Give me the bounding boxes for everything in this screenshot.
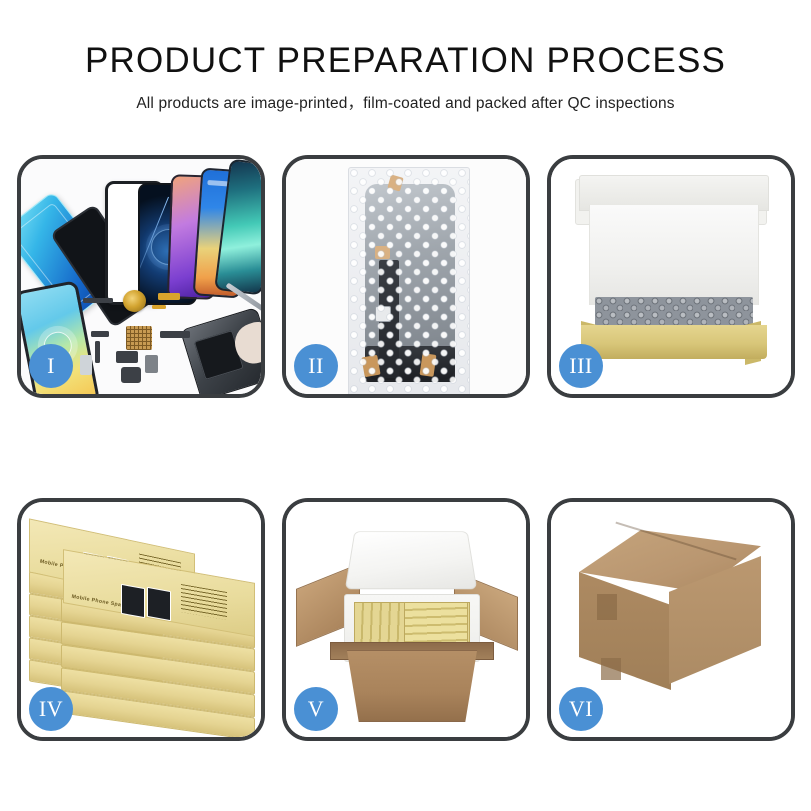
step-1-image: I: [21, 159, 261, 394]
small-flex-cable-icon: [91, 331, 109, 337]
page-title: PRODUCT PREPARATION PROCESS: [0, 42, 811, 81]
step-badge-2: II: [294, 344, 338, 388]
bubble-wrap-bag-icon: [348, 167, 470, 394]
step-badge-4: IV: [29, 687, 73, 731]
speaker-coil-icon: [123, 290, 146, 312]
carton-tape-upper-icon: [597, 594, 617, 620]
step-3-image: III: [551, 159, 791, 394]
earpiece-part-icon: [83, 298, 113, 303]
process-step-panel-3[interactable]: III: [547, 155, 795, 398]
sim-tray-icon: [80, 355, 92, 375]
page-subtitle: All products are image-printed，film-coat…: [0, 81, 811, 113]
chip-grid-icon: [126, 326, 152, 350]
bubble-texture-overlay: [349, 168, 469, 394]
gold-flex-part-icon: [158, 293, 180, 300]
carton-tape-lower-icon: [601, 658, 621, 680]
kraft-mailer-tray-icon: [581, 325, 767, 359]
camera-module-icon: [116, 351, 138, 363]
taptic-engine-icon: [121, 367, 141, 383]
process-step-panel-5[interactable]: V: [282, 498, 530, 741]
step-6-image: VI: [551, 502, 791, 737]
box-screen-image: [121, 584, 145, 618]
step-2-image: II: [286, 159, 526, 394]
step-badge-6: VI: [559, 687, 603, 731]
step-badge-3: III: [559, 344, 603, 388]
ribbon-cable-icon: [160, 331, 190, 338]
step-4-image: Mobile Phone Spare Parts Mobile Phone Sp…: [21, 502, 261, 737]
side-flex-icon: [95, 341, 100, 363]
page-header: PRODUCT PREPARATION PROCESS All products…: [0, 0, 811, 113]
foam-box-lid-icon: [345, 531, 477, 589]
gold-connector-icon: [152, 305, 166, 309]
step-badge-5: V: [294, 687, 338, 731]
step-5-image: V: [286, 502, 526, 737]
process-step-panel-2[interactable]: II: [282, 155, 530, 398]
box-screen-image: [147, 587, 171, 621]
process-step-panel-6[interactable]: VI: [547, 498, 795, 741]
process-step-panel-4[interactable]: Mobile Phone Spare Parts Mobile Phone Sp…: [17, 498, 265, 741]
step-badge-1: I: [29, 344, 73, 388]
process-step-grid: I II: [17, 155, 795, 741]
carton-front-face-icon: [338, 650, 486, 722]
mailer-inner-wall-icon: [589, 205, 759, 305]
battery-connector-icon: [145, 355, 158, 373]
process-step-panel-1[interactable]: I: [17, 155, 265, 398]
